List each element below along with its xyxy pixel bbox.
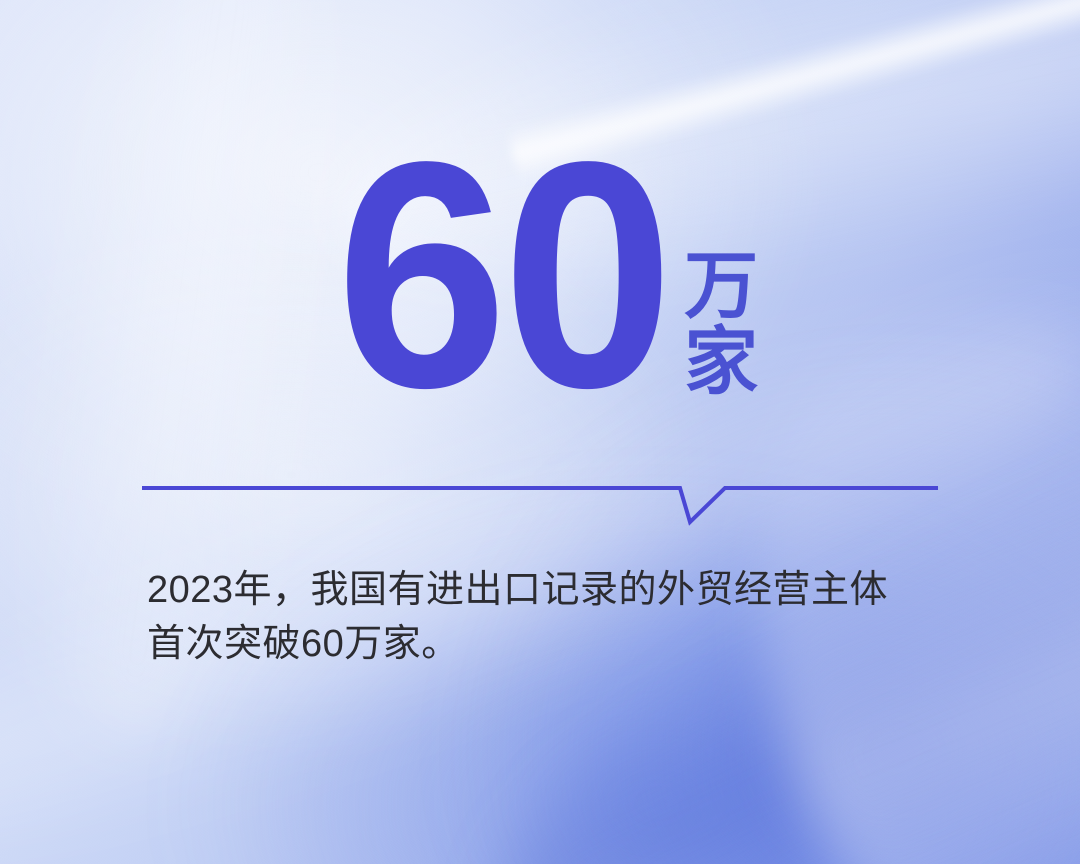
notched-divider-shape xyxy=(140,478,940,534)
poster-content: 60 万 家 2023年，我国有进出口记录的外贸经营主体 首次突破60万家。 xyxy=(0,0,1080,864)
stat-number: 60 xyxy=(336,150,668,401)
infographic-poster: 60 万 家 2023年，我国有进出口记录的外贸经营主体 首次突破60万家。 xyxy=(0,0,1080,864)
stat-block: 60 万 家 xyxy=(0,150,1080,401)
caption: 2023年，我国有进出口记录的外贸经营主体 首次突破60万家。 xyxy=(147,563,957,671)
stat-unit-line-2: 家 xyxy=(684,324,758,399)
notched-divider xyxy=(140,478,940,534)
stat-unit-line-1: 万 xyxy=(684,248,758,323)
caption-line-2: 首次突破60万家。 xyxy=(147,617,957,671)
caption-line-1: 2023年，我国有进出口记录的外贸经营主体 xyxy=(147,563,957,617)
stat-unit: 万 家 xyxy=(684,248,758,399)
